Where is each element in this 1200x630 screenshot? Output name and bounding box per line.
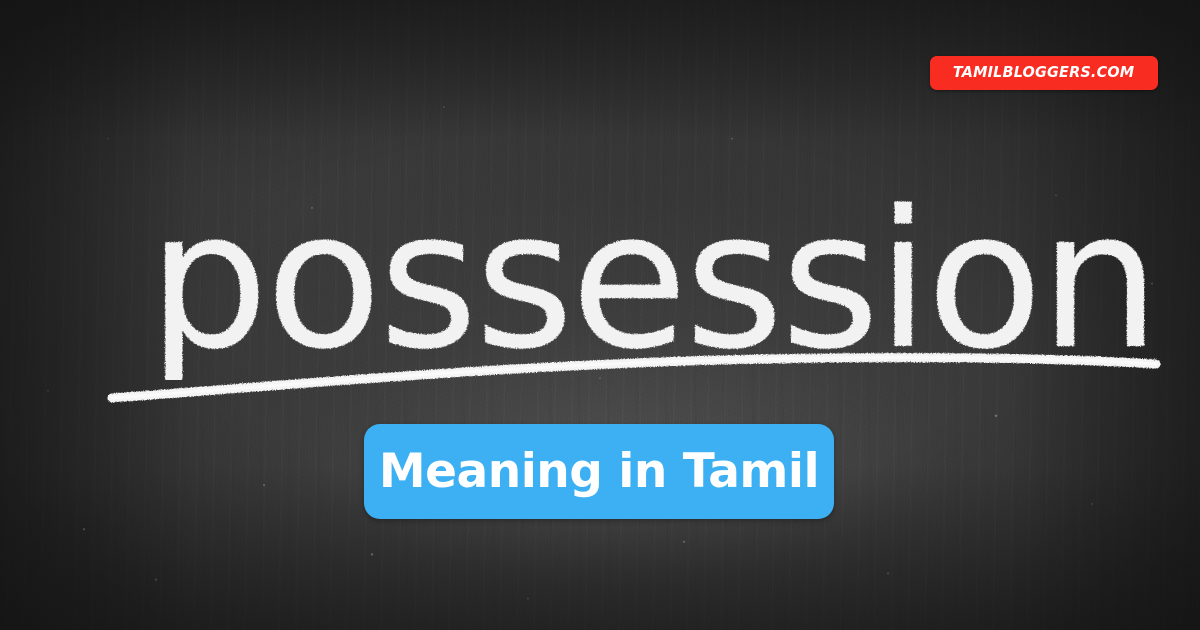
meaning-in-tamil-label: Meaning in Tamil xyxy=(379,448,819,495)
meaning-in-tamil-button[interactable]: Meaning in Tamil xyxy=(364,424,834,519)
chalkboard-surface xyxy=(0,0,1200,630)
site-watermark-badge[interactable]: TAMILBLOGGERS.COM xyxy=(930,56,1158,90)
chalkboard-poster: TAMILBLOGGERS.COM possession xyxy=(0,0,1200,630)
site-watermark-label: TAMILBLOGGERS.COM xyxy=(953,65,1134,81)
